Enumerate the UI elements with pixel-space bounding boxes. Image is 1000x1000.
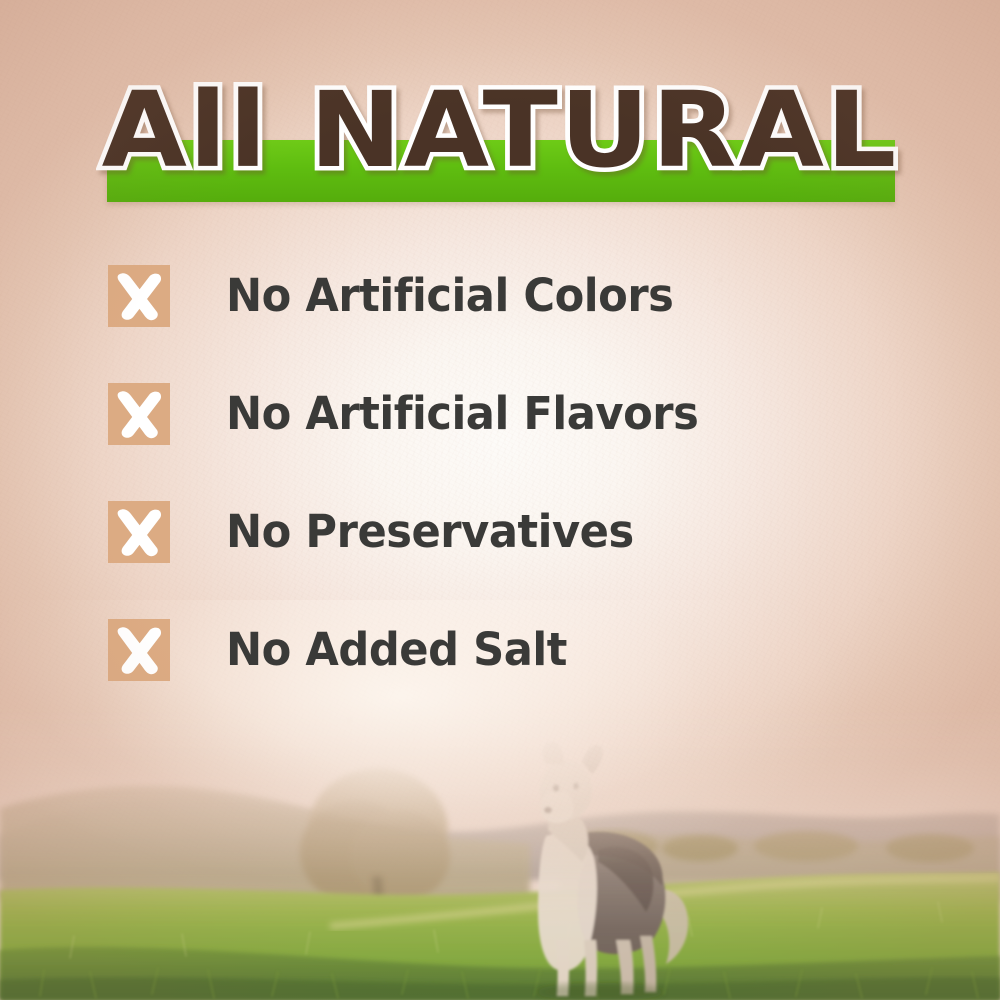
poster-canvas: All NATURAL No Artificial Colors No Arti… [0, 0, 1000, 1000]
x-mark-glyph [108, 265, 170, 327]
list-item-label: No Preservatives [226, 508, 634, 556]
list-item-label: No Artificial Flavors [226, 390, 698, 438]
x-mark-glyph [108, 501, 170, 563]
list-item-label: No Artificial Colors [226, 272, 673, 320]
list-item: No Preservatives [108, 501, 968, 563]
list-item: No Artificial Colors [108, 265, 968, 327]
page-title: All NATURAL [0, 78, 1000, 182]
x-mark-icon [108, 383, 170, 445]
x-mark-icon [108, 501, 170, 563]
headline-block: All NATURAL [0, 78, 1000, 198]
x-mark-icon [108, 265, 170, 327]
list-item: No Added Salt [108, 619, 968, 681]
x-mark-glyph [108, 383, 170, 445]
x-mark-icon [108, 619, 170, 681]
list-item-label: No Added Salt [226, 626, 567, 674]
benefits-list: No Artificial Colors No Artificial Flavo… [108, 265, 968, 737]
list-item: No Artificial Flavors [108, 383, 968, 445]
x-mark-glyph [108, 619, 170, 681]
